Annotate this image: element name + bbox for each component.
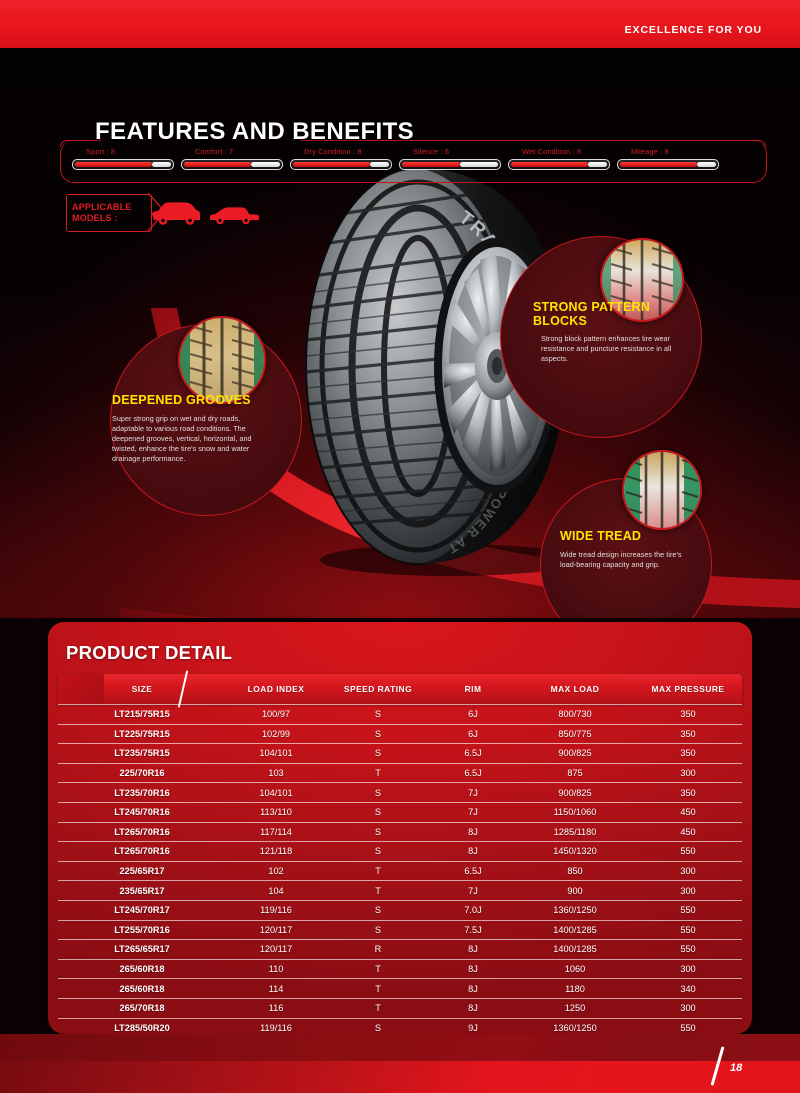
- table-row: 265/70R18116T8J1250300: [58, 999, 742, 1019]
- table-row: LT245/70R17119/116S7.0J1360/1250550: [58, 901, 742, 921]
- applicable-models-badge: APPLICABLE MODELS :: [66, 194, 152, 232]
- table-row: LT285/50R20119/116S9J1360/1250550: [58, 1019, 742, 1035]
- table-cell-speed-rating: S: [326, 788, 430, 798]
- feature-ratings: Sport : 8 Comfort : 7 Dry Condition : 8: [72, 147, 762, 170]
- column-header-max-pressure: MAX PRESSURE: [634, 674, 742, 704]
- table-cell-speed-rating: T: [326, 866, 430, 876]
- table-cell-max-pressure: 350: [634, 748, 742, 758]
- table-cell-max-pressure: 450: [634, 807, 742, 817]
- table-cell-max-pressure: 350: [634, 729, 742, 739]
- column-header-load-index: LOAD INDEX: [226, 674, 326, 704]
- rating-bar: [181, 159, 283, 170]
- tread-inset-wide-tread: [622, 450, 702, 530]
- table-cell-load-index: 100/97: [226, 709, 326, 719]
- table-cell-speed-rating: S: [326, 729, 430, 739]
- table-row: LT225/75R15102/99S6J850/775350: [58, 725, 742, 745]
- table-cell-rim: 9J: [430, 1023, 516, 1033]
- rating-label: Mileage : 8: [631, 147, 722, 156]
- table-cell-size: LT285/50R20: [58, 1023, 226, 1033]
- table-cell-max-pressure: 550: [634, 944, 742, 954]
- table-cell-speed-rating: T: [326, 768, 430, 778]
- rating-bar-fill: [511, 162, 588, 167]
- column-header-max-load: MAX LOAD: [516, 674, 634, 704]
- rating-bar: [617, 159, 719, 170]
- table-cell-rim: 6.5J: [430, 748, 516, 758]
- callout-title: DEEPENED GROOVES: [112, 394, 260, 408]
- table-cell-size: LT265/65R17: [58, 944, 226, 954]
- table-cell-size: LT245/70R16: [58, 807, 226, 817]
- table-cell-load-index: 119/116: [226, 905, 326, 915]
- table-cell-rim: 8J: [430, 1003, 516, 1013]
- table-cell-size: LT235/70R16: [58, 788, 226, 798]
- applicable-vehicle-icons: [150, 200, 260, 226]
- table-cell-rim: 7.5J: [430, 925, 516, 935]
- rating-bar: [290, 159, 392, 170]
- table-cell-max-load: 1360/1250: [516, 1023, 634, 1033]
- rating-silence: Silence : 6: [399, 147, 504, 170]
- tread-inset-deepened-grooves: [178, 316, 266, 404]
- table-cell-speed-rating: S: [326, 748, 430, 758]
- table-cell-max-pressure: 350: [634, 788, 742, 798]
- table-cell-max-pressure: 300: [634, 768, 742, 778]
- table-cell-max-load: 1285/1180: [516, 827, 634, 837]
- features-title: FEATURES AND BENEFITS: [95, 118, 414, 146]
- table-cell-size: 225/65R17: [58, 866, 226, 876]
- rating-bar-rest: [370, 162, 389, 167]
- table-cell-rim: 6.5J: [430, 768, 516, 778]
- table-cell-size: 265/70R18: [58, 1003, 226, 1013]
- table-cell-load-index: 114: [226, 984, 326, 994]
- table-cell-rim: 6.5J: [430, 866, 516, 876]
- table-cell-max-pressure: 300: [634, 866, 742, 876]
- table-cell-load-index: 104: [226, 886, 326, 896]
- rating-label: Comfort : 7: [195, 147, 286, 156]
- table-cell-size: 225/70R16: [58, 768, 226, 778]
- table-cell-max-load: 850/775: [516, 729, 634, 739]
- rating-sport: Sport : 8: [72, 147, 177, 170]
- callout-wide-tread: WIDE TREAD Wide tread design increases t…: [560, 530, 688, 570]
- table-cell-rim: 7.0J: [430, 905, 516, 915]
- callout-body: Wide tread design increases the tire's l…: [560, 550, 688, 570]
- table-row: LT265/70R16121/118S8J1450/1320550: [58, 842, 742, 862]
- rating-bar-rest: [460, 162, 498, 167]
- table-header-row: SIZE LOAD INDEX SPEED RATING RIM MAX LOA…: [58, 674, 742, 704]
- rating-bar-rest: [588, 162, 607, 167]
- rating-bar-fill: [402, 162, 460, 167]
- rating-bar: [399, 159, 501, 170]
- table-row: LT265/65R17120/117R8J1400/1285550: [58, 940, 742, 960]
- table-cell-max-load: 1360/1250: [516, 905, 634, 915]
- table-cell-rim: 6J: [430, 729, 516, 739]
- table-cell-max-load: 900/825: [516, 748, 634, 758]
- table-cell-max-load: 850: [516, 866, 634, 876]
- callout-deepened-grooves: DEEPENED GROOVES Super strong grip on we…: [112, 394, 260, 465]
- table-cell-max-pressure: 340: [634, 984, 742, 994]
- table-row: 235/65R17104T7J900300: [58, 881, 742, 901]
- table-cell-max-load: 1400/1285: [516, 944, 634, 954]
- rating-bar-fill: [293, 162, 370, 167]
- table-row: LT255/70R16120/117S7.5J1400/1285550: [58, 921, 742, 941]
- table-cell-max-pressure: 550: [634, 905, 742, 915]
- table-cell-max-load: 800/730: [516, 709, 634, 719]
- rating-bar: [72, 159, 174, 170]
- table-cell-speed-rating: S: [326, 925, 430, 935]
- table-row: 265/60R18114T8J1180340: [58, 979, 742, 999]
- product-detail-panel: PRODUCT DETAIL SIZE LOAD INDEX SPEED RAT…: [48, 622, 752, 1034]
- table-cell-rim: 8J: [430, 827, 516, 837]
- rating-dry-condition: Dry Condition : 8: [290, 147, 395, 170]
- table-cell-speed-rating: S: [326, 827, 430, 837]
- table-cell-max-pressure: 550: [634, 1023, 742, 1033]
- table-cell-max-load: 875: [516, 768, 634, 778]
- table-cell-rim: 6J: [430, 709, 516, 719]
- table-cell-load-index: 116: [226, 1003, 326, 1013]
- table-cell-speed-rating: T: [326, 984, 430, 994]
- rating-label: Silence : 6: [413, 147, 504, 156]
- rating-bar-rest: [251, 162, 280, 167]
- applicable-models-label: APPLICABLE MODELS :: [72, 202, 146, 224]
- table-cell-load-index: 113/110: [226, 807, 326, 817]
- table-cell-max-load: 1400/1285: [516, 925, 634, 935]
- page-number: 18: [730, 1062, 742, 1074]
- table-cell-speed-rating: T: [326, 964, 430, 974]
- table-cell-load-index: 110: [226, 964, 326, 974]
- table-cell-load-index: 121/118: [226, 846, 326, 856]
- table-cell-load-index: 120/117: [226, 944, 326, 954]
- table-cell-max-pressure: 300: [634, 886, 742, 896]
- rating-bar: [508, 159, 610, 170]
- rating-bar-fill: [620, 162, 697, 167]
- table-cell-speed-rating: S: [326, 1023, 430, 1033]
- rating-comfort: Comfort : 7: [181, 147, 286, 170]
- callout-body: Strong block pattern enhances tire wear …: [541, 334, 681, 365]
- rating-label: Dry Condition : 8: [304, 147, 395, 156]
- table-cell-max-load: 1150/1060: [516, 807, 634, 817]
- table-row: LT245/70R16113/110S7J1150/1060450: [58, 803, 742, 823]
- table-cell-speed-rating: T: [326, 886, 430, 896]
- rating-bar-rest: [152, 162, 171, 167]
- table-cell-size: LT235/75R15: [58, 748, 226, 758]
- rating-bar-fill: [75, 162, 152, 167]
- rating-bar-rest: [697, 162, 716, 167]
- table-cell-size: 235/65R17: [58, 886, 226, 896]
- table-cell-size: LT265/70R16: [58, 846, 226, 856]
- table-cell-load-index: 102: [226, 866, 326, 876]
- table-cell-max-load: 900/825: [516, 788, 634, 798]
- table-cell-speed-rating: S: [326, 807, 430, 817]
- table-cell-load-index: 104/101: [226, 748, 326, 758]
- table-cell-max-load: 1180: [516, 984, 634, 994]
- callout-strong-pattern-blocks: STRONG PATTERN BLOCKS Strong block patte…: [533, 301, 683, 365]
- table-cell-size: LT225/75R15: [58, 729, 226, 739]
- table-cell-rim: 7J: [430, 886, 516, 896]
- table-cell-rim: 8J: [430, 964, 516, 974]
- column-header-size: SIZE: [58, 674, 226, 704]
- table-row: 265/60R18110T8J1060300: [58, 960, 742, 980]
- table-cell-max-load: 1250: [516, 1003, 634, 1013]
- table-row: LT235/70R16104/101S7J900/825350: [58, 783, 742, 803]
- table-cell-size: LT255/70R16: [58, 925, 226, 935]
- rating-wet-condition: Wet Condition : 8: [508, 147, 613, 170]
- callout-title: STRONG PATTERN BLOCKS: [533, 301, 683, 328]
- hero-section: TRAC AT POWER AT: [0, 48, 800, 618]
- table-cell-size: 265/60R18: [58, 964, 226, 974]
- table-cell-load-index: 120/117: [226, 925, 326, 935]
- table-cell-max-pressure: 300: [634, 964, 742, 974]
- table-row: 225/70R16103T6.5J875300: [58, 764, 742, 784]
- table-cell-speed-rating: S: [326, 709, 430, 719]
- product-detail-table-body: LT215/75R15100/97S6J800/730350LT225/75R1…: [58, 704, 742, 1034]
- table-cell-size: LT215/75R15: [58, 709, 226, 719]
- table-cell-load-index: 117/114: [226, 827, 326, 837]
- brand-tagline: EXCELLENCE FOR YOU: [625, 24, 762, 36]
- table-cell-rim: 7J: [430, 788, 516, 798]
- table-cell-speed-rating: T: [326, 1003, 430, 1013]
- table-cell-speed-rating: R: [326, 944, 430, 954]
- table-cell-rim: 7J: [430, 807, 516, 817]
- table-cell-load-index: 103: [226, 768, 326, 778]
- table-cell-size: LT265/70R16: [58, 827, 226, 837]
- suv-icon: [150, 200, 202, 226]
- product-detail-title: PRODUCT DETAIL: [66, 642, 232, 664]
- table-row: LT235/75R15104/101S6.5J900/825350: [58, 744, 742, 764]
- pickup-truck-icon: [208, 204, 260, 226]
- table-row: 225/65R17102T6.5J850300: [58, 862, 742, 882]
- table-cell-max-pressure: 350: [634, 709, 742, 719]
- top-red-bar: EXCELLENCE FOR YOU: [0, 0, 800, 48]
- table-cell-max-pressure: 450: [634, 827, 742, 837]
- table-row: LT265/70R16117/114S8J1285/1180450: [58, 823, 742, 843]
- table-cell-rim: 8J: [430, 846, 516, 856]
- table-cell-load-index: 104/101: [226, 788, 326, 798]
- table-cell-max-load: 900: [516, 886, 634, 896]
- catalog-page: EXCELLENCE FOR YOU: [0, 0, 800, 1093]
- table-cell-max-pressure: 300: [634, 1003, 742, 1013]
- table-cell-max-load: 1060: [516, 964, 634, 974]
- table-cell-max-pressure: 550: [634, 925, 742, 935]
- rating-label: Sport : 8: [86, 147, 177, 156]
- rating-mileage: Mileage : 8: [617, 147, 722, 170]
- table-cell-size: 265/60R18: [58, 984, 226, 994]
- table-cell-max-load: 1450/1320: [516, 846, 634, 856]
- table-cell-speed-rating: S: [326, 846, 430, 856]
- callout-title: WIDE TREAD: [560, 530, 688, 544]
- table-cell-max-pressure: 550: [634, 846, 742, 856]
- rating-label: Wet Condition : 8: [522, 147, 613, 156]
- rating-bar-fill: [184, 162, 251, 167]
- table-cell-rim: 8J: [430, 984, 516, 994]
- table-row: LT215/75R15100/97S6J800/730350: [58, 704, 742, 725]
- table-cell-size: LT245/70R17: [58, 905, 226, 915]
- table-cell-rim: 8J: [430, 944, 516, 954]
- callout-body: Super strong grip on wet and dry roads, …: [112, 414, 260, 465]
- table-cell-speed-rating: S: [326, 905, 430, 915]
- table-cell-load-index: 102/99: [226, 729, 326, 739]
- table-cell-load-index: 119/116: [226, 1023, 326, 1033]
- column-header-rim: RIM: [430, 674, 516, 704]
- footer-wedge-overlay: [0, 1034, 800, 1093]
- column-header-speed-rating: SPEED RATING: [326, 674, 430, 704]
